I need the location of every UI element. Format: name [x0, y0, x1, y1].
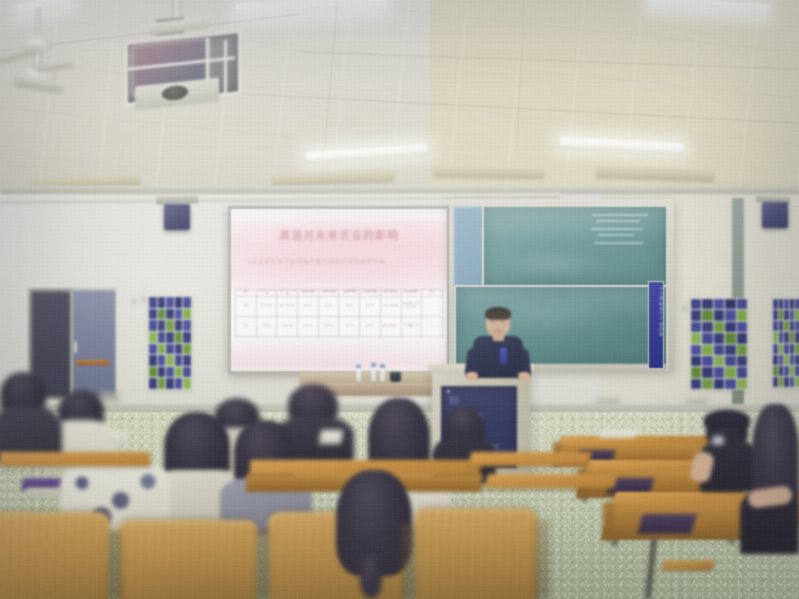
poster-cell: [166, 367, 174, 378]
seat-back-grain: [414, 508, 538, 599]
poster-cell: [784, 366, 789, 376]
seat-back[interactable]: [414, 508, 538, 599]
eyeglasses: [712, 436, 724, 445]
poster-cell: [790, 366, 795, 376]
poster-cell: [737, 333, 747, 343]
poster-cell: [158, 320, 166, 331]
lecturer-left-hand: [466, 372, 478, 381]
poster-cell: [790, 355, 795, 365]
poster-cell: [790, 332, 795, 342]
poster-cell: [737, 310, 747, 320]
safety-banner: 人 人 讲 安 全 个 个 会 应 急: [648, 281, 664, 369]
poster-cell: [725, 367, 735, 377]
poster-cell: [175, 309, 183, 320]
poster-cell: [790, 344, 795, 354]
poster-cell: [779, 377, 784, 387]
seat-gap: [108, 530, 122, 599]
dark-cup[interactable]: [390, 372, 401, 382]
poster-cell: [784, 355, 789, 365]
wall-speaker-right: [762, 202, 788, 228]
wall-top-rail: [0, 186, 799, 194]
poster-cell: [691, 322, 701, 332]
poster-cell: [779, 332, 784, 342]
poster-cell: [166, 355, 174, 366]
poster-cell: [725, 356, 735, 366]
slide-table-cell: 小幅波动: [256, 316, 277, 336]
notebook[interactable]: [599, 430, 637, 438]
poster-cell: [149, 309, 157, 320]
poster-cell: [183, 378, 191, 389]
slide-title: 高温对未来农业的影响: [231, 227, 447, 243]
poster-cell: [737, 322, 747, 332]
poster-cell: [691, 367, 701, 377]
slide-table-cell: 约7.4%: [339, 296, 360, 316]
bottle-cap: [380, 364, 385, 368]
poster-grid-right-a: [690, 298, 748, 390]
poster-cell: [175, 332, 183, 343]
slide-table-row: 经济小幅波动明显下滑约4.1%约3.5%约4.8%约3.9%糖分积累减少节水灌溉…: [236, 316, 443, 336]
projection-screen[interactable]: 高温对未来农业的影响 气候变暖背景下农作物产量与品质的变化趋势分析 项目气温上升…: [231, 209, 447, 371]
poster-cell: [773, 366, 778, 376]
foreground-student-hair-tail: [360, 554, 382, 598]
poster-cell: [790, 377, 795, 387]
poster-cell: [795, 332, 799, 342]
seat-gap: [534, 520, 550, 599]
poster-cell: [725, 333, 735, 343]
poster-cell: [725, 345, 735, 355]
chalk-stroke: [598, 234, 634, 236]
poster-cell: [784, 310, 789, 320]
classroom-photo: 高温对未来农业的影响 气候变暖背景下农作物产量与品质的变化趋势分析 项目气温上升…: [0, 0, 799, 599]
wall-mark: [132, 300, 136, 304]
slide-table-cell: 减产5%-8%: [256, 296, 277, 316]
poster-cell: [183, 309, 191, 320]
poster-cell: [779, 310, 784, 320]
poster-cell: [795, 310, 799, 320]
poster-cell: [714, 367, 724, 377]
poster-cell: [784, 377, 789, 387]
poster-cell: [158, 367, 166, 378]
poster-cell: [158, 344, 166, 355]
classroom-door[interactable]: [71, 291, 115, 397]
monitor-led: [447, 390, 450, 393]
poster-cell: [795, 344, 799, 354]
poster-cell: [795, 366, 799, 376]
paper-stack[interactable]: [25, 488, 62, 496]
cage-bar: [224, 40, 227, 96]
seat-gap: [402, 524, 416, 599]
safety-banner-text: 人 人 讲 安 全 个 个 会 应 急: [649, 286, 663, 336]
poster-cell: [691, 345, 701, 355]
poster-cell: [691, 379, 701, 389]
poster-cell: [175, 297, 183, 308]
wall-mark: [682, 306, 687, 311]
paper[interactable]: [107, 432, 129, 444]
poster-cell: [183, 344, 191, 355]
poster-cell: [784, 332, 789, 342]
water-bottle[interactable]: [371, 366, 376, 382]
poster-cell: [795, 321, 799, 331]
poster-cell: [714, 322, 724, 332]
poster-cell: [737, 367, 747, 377]
poster-cell: [714, 299, 724, 309]
poster-cell: [784, 344, 789, 354]
slide-table-cell: 减产10%-15%: [277, 296, 298, 316]
poster-cell: [725, 299, 735, 309]
poster-cell: [166, 332, 174, 343]
poster-cell: [175, 367, 183, 378]
poster-cell: [737, 345, 747, 355]
desk-side: [603, 502, 614, 540]
poster-cell: [183, 297, 191, 308]
poster-cell: [725, 322, 735, 332]
water-bottle[interactable]: [356, 368, 361, 382]
poster-cell: [149, 297, 157, 308]
poster-cell: [149, 332, 157, 343]
seat-back-grain: [0, 512, 110, 599]
poster-cell: [779, 321, 784, 331]
lecturer-eye: [501, 320, 505, 322]
poster-cell: [779, 366, 784, 376]
lecturer-torso: [473, 336, 523, 378]
seat-gap: [256, 528, 270, 599]
monitor-pixel: [449, 396, 459, 404]
poster-cell: [790, 299, 795, 309]
lecturer-hair: [485, 307, 511, 320]
paper[interactable]: [319, 430, 343, 444]
tube-light-off: [434, 165, 544, 178]
slide-table-cell: 节水灌溉、遮阳覆盖: [401, 316, 422, 336]
chalk-stroke: [596, 220, 640, 222]
slide-table-cell: 约4.8%: [339, 316, 360, 336]
bottle-cap: [371, 363, 376, 367]
poster-cell: [702, 356, 712, 366]
poster-cell: [702, 322, 712, 332]
slide-table-cell: 约4.1%: [298, 316, 319, 336]
seat-back-grain: [118, 520, 258, 599]
water-bottle[interactable]: [380, 367, 385, 382]
poster-cell: [773, 377, 778, 387]
poster-cell: [158, 378, 166, 389]
lecturer-right-hand: [518, 372, 530, 381]
seat-back[interactable]: [118, 520, 258, 599]
bottle-cap: [356, 365, 361, 368]
door-handle[interactable]: [74, 341, 77, 353]
poster-cell: [779, 299, 784, 309]
slide-table-cell: 糖分积累减少: [380, 316, 401, 336]
slide-table-cell: [422, 316, 443, 336]
poster-cell: [784, 321, 789, 331]
poster-cell: [737, 356, 747, 366]
poster-cell: [702, 367, 712, 377]
poster-cell: [158, 309, 166, 320]
chalk-stroke: [594, 242, 644, 244]
lecturer-lanyard: [500, 348, 507, 364]
student-cap: [704, 410, 750, 428]
poster-cell: [773, 310, 778, 320]
chalk-smudge: [500, 250, 610, 278]
poster-cell: [149, 367, 157, 378]
desk-top: [0, 452, 150, 466]
slide-table-cell: [422, 296, 443, 316]
poster-cell: [714, 379, 724, 389]
slide-table-cell: 约5.2%: [360, 296, 381, 316]
poster-cell: [166, 309, 174, 320]
poster-cell: [158, 332, 166, 343]
poster-cell: [795, 299, 799, 309]
poster-cell: [790, 321, 795, 331]
poster-cell: [149, 320, 157, 331]
chalk-stroke: [591, 228, 643, 230]
poster-cell: [773, 321, 778, 331]
lecturer-mouth: [494, 330, 502, 332]
poster-cell: [175, 344, 183, 355]
poster-cell: [175, 355, 183, 366]
poster-cell: [784, 299, 789, 309]
poster-cell: [149, 355, 157, 366]
slide-table-row: 粮食减产5%-8%减产10%-15%约8.3%约6.0%约7.4%约5.2%蛋白…: [236, 296, 443, 316]
slide-table-body: 粮食减产5%-8%减产10%-15%约8.3%约6.0%约7.4%约5.2%蛋白…: [236, 296, 443, 336]
poster-cell: [795, 377, 799, 387]
slide-table-cell: 经济: [236, 316, 257, 336]
poster-cell: [166, 344, 174, 355]
wall-mark: [142, 296, 145, 302]
poster-cell: [737, 379, 747, 389]
slide-table-cell: 约6.0%: [318, 296, 339, 316]
poster-cell: [149, 378, 157, 389]
poster-cell: [691, 310, 701, 320]
slide-subtitle: 气候变暖背景下农作物产量与品质的变化趋势分析: [245, 257, 418, 266]
poster-cell: [166, 297, 174, 308]
slide-table-cell: 约3.5%: [318, 316, 339, 336]
poster-cell: [790, 310, 795, 320]
slide-table-cell: 调整播期、选育耐热品种: [401, 296, 422, 316]
poster-cell: [773, 299, 778, 309]
poster-cell: [795, 355, 799, 365]
poster-cell: [702, 333, 712, 343]
slide-table: 项目气温上升1.5℃情景气温上升2.0℃情景水稻减产幅度小麦减产幅度玉米减产幅度…: [235, 289, 443, 337]
poster-grid-right-b: [772, 298, 799, 388]
poster-cell: [737, 299, 747, 309]
desk-top: [484, 474, 617, 488]
poster-cell: [158, 297, 166, 308]
poster-cell: [714, 356, 724, 366]
seat-back[interactable]: [0, 512, 110, 599]
slide-table-cell: 约8.3%: [298, 296, 319, 316]
poster-cell: [175, 378, 183, 389]
seat[interactable]: [660, 560, 715, 571]
poster-cell: [183, 332, 191, 343]
desk-cubby: [637, 514, 697, 534]
poster-cell: [183, 367, 191, 378]
poster-cell: [714, 333, 724, 343]
poster-cell: [691, 333, 701, 343]
poster-cell: [183, 320, 191, 331]
poster-cell: [702, 379, 712, 389]
poster-cell: [166, 378, 174, 389]
slide-table-cell: 粮食: [236, 296, 257, 316]
poster-grid-left: [148, 296, 192, 390]
wall-speaker-left: [164, 204, 190, 230]
desk-top: [469, 452, 592, 466]
poster-cell: [691, 299, 701, 309]
wall-outlet: [100, 392, 120, 404]
poster-cell: [166, 320, 174, 331]
poster-cell: [779, 355, 784, 365]
chalk-stroke: [592, 214, 648, 216]
poster-cell: [702, 299, 712, 309]
slide-table-cell: 明显下滑: [277, 316, 298, 336]
poster-cell: [773, 344, 778, 354]
poster-cell: [773, 355, 778, 365]
poster-cell: [702, 345, 712, 355]
poster-cell: [714, 345, 724, 355]
poster-cell: [149, 344, 157, 355]
lecturer-eye: [491, 320, 495, 322]
poster-cell: [175, 320, 183, 331]
poster-cell: [702, 310, 712, 320]
poster-cell: [691, 356, 701, 366]
door-decal-stripe: [76, 360, 109, 365]
poster-cell: [183, 355, 191, 366]
poster-cell: [779, 344, 784, 354]
poster-cell: [725, 310, 735, 320]
poster-cell: [773, 332, 778, 342]
poster-cell: [714, 310, 724, 320]
slide-table-cell: 蛋白含量下降: [380, 296, 401, 316]
slide-table-cell: 约3.9%: [360, 316, 381, 336]
poster-cell: [725, 379, 735, 389]
poster-cell: [158, 355, 166, 366]
